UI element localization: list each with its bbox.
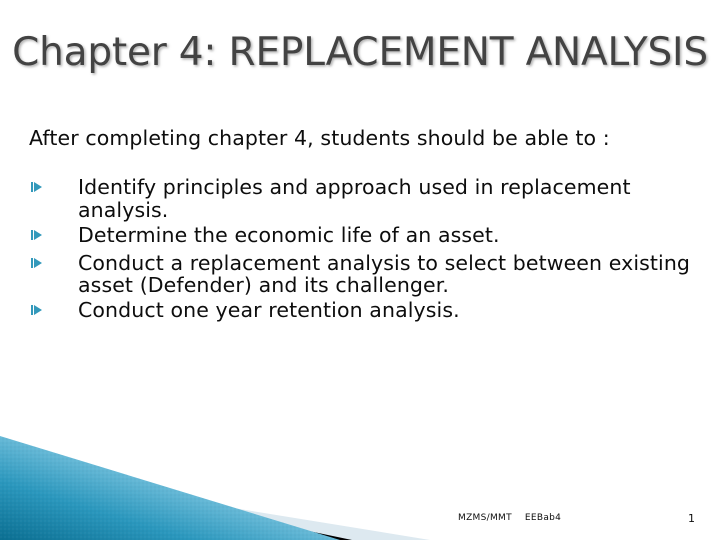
arrow-bullet-icon	[34, 258, 42, 268]
intro-line: After completing chapter 4, students sho…	[29, 126, 697, 152]
list-item-label: Conduct one year retention analysis.	[78, 299, 697, 322]
teal-triangle-texture	[0, 436, 340, 540]
footer-label: MZMS/MMTEEBab4	[458, 513, 561, 523]
footer-left-label: MZMS/MMT	[458, 513, 512, 523]
objectives-list: Identify principles and approach used in…	[29, 176, 697, 326]
teal-triangle	[0, 436, 340, 540]
footer-right-label: EEBab4	[525, 513, 561, 523]
slide-canvas: Chapter 4: REPLACEMENT ANALYSIS After co…	[0, 0, 720, 540]
list-item: Conduct a replacement analysis to select…	[29, 252, 697, 298]
page-number: 1	[688, 512, 695, 525]
slide-body: After completing chapter 4, students sho…	[29, 126, 697, 327]
arrow-bullet-icon	[34, 182, 42, 192]
list-item: Identify principles and approach used in…	[29, 176, 697, 222]
list-item: Determine the economic life of an asset.	[29, 224, 697, 250]
arrow-bullet-icon	[34, 305, 42, 315]
list-item: Conduct one year retention analysis.	[29, 299, 697, 325]
list-item-label: Conduct a replacement analysis to select…	[78, 252, 697, 298]
list-item-label: Determine the economic life of an asset.	[78, 224, 697, 247]
black-stripe	[0, 467, 352, 540]
slide-title: Chapter 4: REPLACEMENT ANALYSIS	[0, 32, 720, 75]
arrow-bullet-icon	[34, 230, 42, 240]
pale-blue-band	[0, 470, 430, 540]
footer-decoration-graphic	[0, 420, 720, 540]
list-item-label: Identify principles and approach used in…	[78, 176, 697, 222]
